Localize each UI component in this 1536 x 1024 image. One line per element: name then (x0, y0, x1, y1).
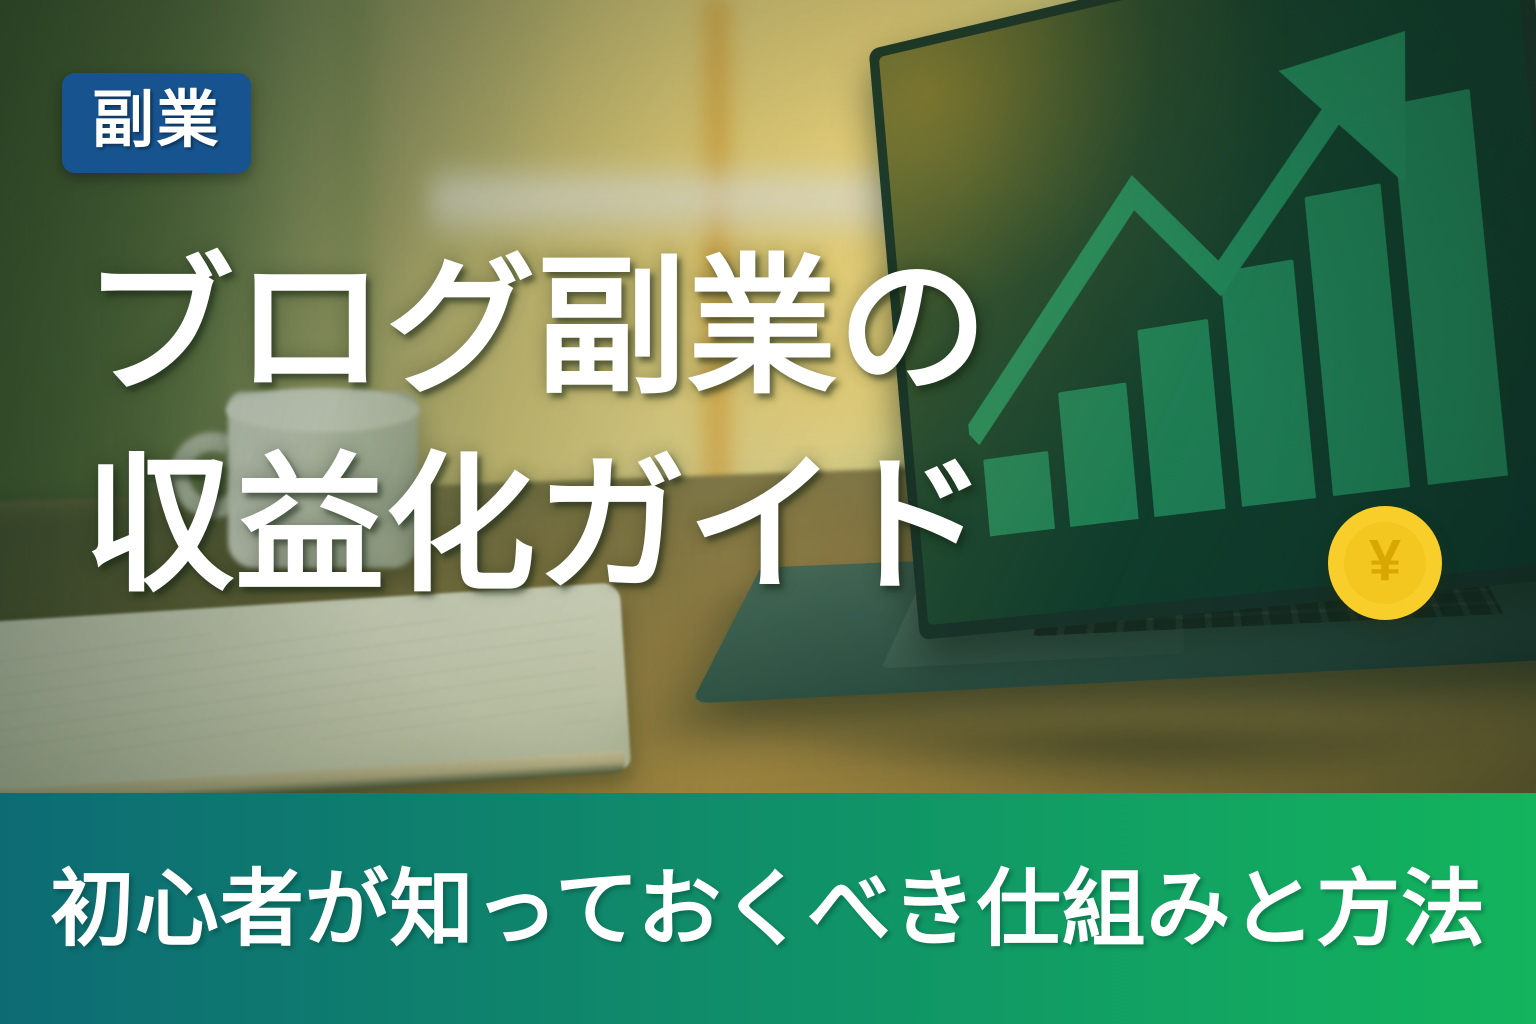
page-title: ブログ副業の 収益化ガイド (84, 228, 1144, 624)
subtitle-banner: 初心者が知っておくべき仕組みと方法 (0, 793, 1536, 1024)
title-line-2: 収益化ガイド (84, 426, 1144, 624)
subtitle-text: 初心者が知っておくべき仕組みと方法 (50, 867, 1486, 951)
thumbnail-canvas: 副業 ブログ副業の 収益化ガイド ¥ 初心者が知っておくべき仕組みと方法 (0, 0, 1536, 1024)
title-line-1: ブログ副業の (84, 228, 1144, 426)
yen-symbol: ¥ (1344, 522, 1426, 604)
category-badge: 副業 (62, 73, 251, 173)
yen-coin-icon: ¥ (1328, 506, 1442, 620)
